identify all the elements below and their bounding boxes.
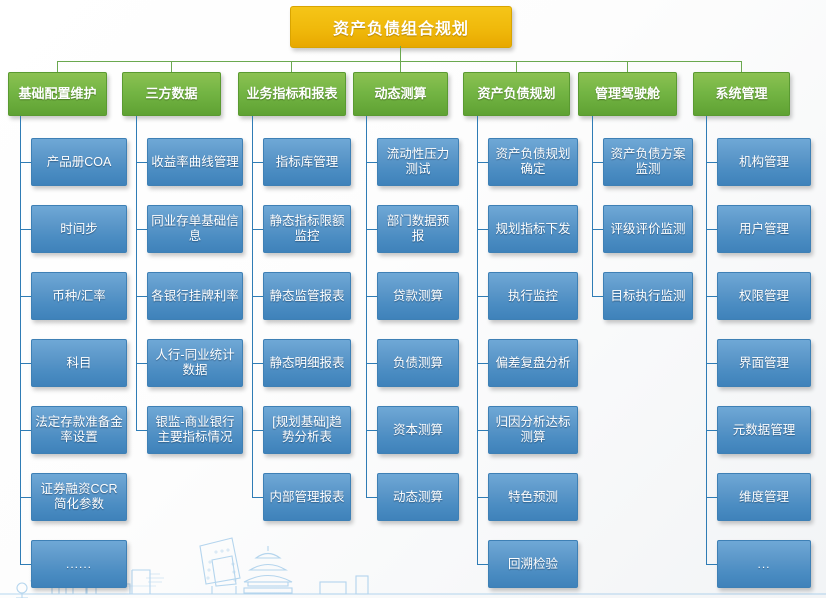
leaf-2-5[interactable]: 银监-商业银行主要指标情况 [147, 406, 243, 454]
leaf-6-1[interactable]: 资产负债方案监测 [603, 138, 693, 186]
leaf-7-5[interactable]: 元数据管理 [717, 406, 811, 454]
leaf-tick-3-6 [252, 497, 263, 498]
leaf-tick-2-5 [136, 430, 147, 431]
leaf-tick-7-4 [706, 363, 717, 364]
leaf-tick-4-6 [366, 497, 377, 498]
leaf-tick-7-3 [706, 296, 717, 297]
leaf-1-1[interactable]: 产品册COA [31, 138, 127, 186]
leaf-1-7[interactable]: ...... [31, 540, 127, 588]
leaf-tick-4-3 [366, 296, 377, 297]
leaf-3-2[interactable]: 静态指标限额监控 [263, 205, 351, 253]
leaf-4-6[interactable]: 动态测算 [377, 473, 459, 521]
leaf-3-3[interactable]: 静态监管报表 [263, 272, 351, 320]
leaf-7-2[interactable]: 用户管理 [717, 205, 811, 253]
leaf-tick-7-2 [706, 229, 717, 230]
leaf-tick-1-2 [20, 229, 31, 230]
column-header-3[interactable]: 业务指标和报表 [238, 72, 346, 116]
leaf-tick-5-7 [477, 564, 488, 565]
leaf-tick-4-2 [366, 229, 377, 230]
leaf-tick-1-4 [20, 363, 31, 364]
leaf-tick-2-4 [136, 363, 147, 364]
column-header-7[interactable]: 系统管理 [693, 72, 790, 116]
leaf-tick-6-2 [592, 229, 603, 230]
leaf-tick-5-2 [477, 229, 488, 230]
leaf-7-3[interactable]: 权限管理 [717, 272, 811, 320]
leaf-tick-7-7 [706, 564, 717, 565]
leaf-7-6[interactable]: 维度管理 [717, 473, 811, 521]
leaf-tick-2-2 [136, 229, 147, 230]
diagram-title: 资产负债组合规划 [290, 6, 512, 48]
leaf-3-1[interactable]: 指标库管理 [263, 138, 351, 186]
leaf-5-6[interactable]: 特色预测 [488, 473, 578, 521]
column-spine-2 [136, 116, 137, 431]
leaf-tick-7-6 [706, 497, 717, 498]
leaf-tick-3-4 [252, 363, 263, 364]
leaf-tick-4-4 [366, 363, 377, 364]
leaf-5-7[interactable]: 回溯检验 [488, 540, 578, 588]
leaf-tick-5-1 [477, 162, 488, 163]
leaf-tick-5-5 [477, 430, 488, 431]
column-spine-3 [252, 116, 253, 498]
leaf-3-5[interactable]: [规划基础]趋势分析表 [263, 406, 351, 454]
leaf-7-4[interactable]: 界面管理 [717, 339, 811, 387]
leaf-tick-6-1 [592, 162, 603, 163]
leaf-tick-1-3 [20, 296, 31, 297]
leaf-tick-3-3 [252, 296, 263, 297]
connector-title-stem [400, 46, 401, 62]
leaf-6-2[interactable]: 评级评价监测 [603, 205, 693, 253]
leaf-tick-6-3 [592, 296, 603, 297]
leaf-4-4[interactable]: 负债测算 [377, 339, 459, 387]
leaf-5-2[interactable]: 规划指标下发 [488, 205, 578, 253]
leaf-2-1[interactable]: 收益率曲线管理 [147, 138, 243, 186]
leaf-7-1[interactable]: 机构管理 [717, 138, 811, 186]
leaf-1-3[interactable]: 币种/汇率 [31, 272, 127, 320]
column-header-5[interactable]: 资产负债规划 [463, 72, 570, 116]
leaf-tick-1-6 [20, 497, 31, 498]
leaf-4-5[interactable]: 资本测算 [377, 406, 459, 454]
leaf-5-5[interactable]: 归因分析达标测算 [488, 406, 578, 454]
leaf-tick-1-1 [20, 162, 31, 163]
leaf-tick-5-4 [477, 363, 488, 364]
org-chart-canvas: 资产负债组合规划 基础配置维护 产品册COA 时间步 币种/汇率 科目 法定存款… [0, 0, 826, 598]
column-header-2[interactable]: 三方数据 [122, 72, 221, 116]
leaf-4-3[interactable]: 贷款测算 [377, 272, 459, 320]
leaf-3-4[interactable]: 静态明细报表 [263, 339, 351, 387]
leaf-1-2[interactable]: 时间步 [31, 205, 127, 253]
leaf-5-1[interactable]: 资产负债规划确定 [488, 138, 578, 186]
leaf-5-3[interactable]: 执行监控 [488, 272, 578, 320]
leaf-7-7[interactable]: ... [717, 540, 811, 588]
column-header-6[interactable]: 管理驾驶舱 [578, 72, 677, 116]
leaf-2-4[interactable]: 人行-同业统计数据 [147, 339, 243, 387]
leaf-tick-1-7 [20, 564, 31, 565]
leaf-tick-3-1 [252, 162, 263, 163]
leaf-5-4[interactable]: 偏差复盘分析 [488, 339, 578, 387]
leaf-6-3[interactable]: 目标执行监测 [603, 272, 693, 320]
column-header-1[interactable]: 基础配置维护 [8, 72, 107, 116]
leaf-1-4[interactable]: 科目 [31, 339, 127, 387]
leaf-1-5[interactable]: 法定存款准备金率设置 [31, 406, 127, 454]
leaf-3-6[interactable]: 内部管理报表 [263, 473, 351, 521]
column-spine-4 [366, 116, 367, 498]
leaf-1-6[interactable]: 证券融资CCR简化参数 [31, 473, 127, 521]
leaf-tick-2-1 [136, 162, 147, 163]
connector-top-bus [57, 61, 741, 62]
leaf-tick-5-3 [477, 296, 488, 297]
leaf-4-2[interactable]: 部门数据预报 [377, 205, 459, 253]
leaf-4-1[interactable]: 流动性压力测试 [377, 138, 459, 186]
leaf-tick-5-6 [477, 497, 488, 498]
column-spine-6 [592, 116, 593, 297]
leaf-tick-2-3 [136, 296, 147, 297]
column-header-4[interactable]: 动态测算 [353, 72, 448, 116]
leaf-tick-4-5 [366, 430, 377, 431]
leaf-2-3[interactable]: 各银行挂牌利率 [147, 272, 243, 320]
leaf-tick-3-5 [252, 430, 263, 431]
leaf-tick-3-2 [252, 229, 263, 230]
leaf-tick-4-1 [366, 162, 377, 163]
leaf-2-2[interactable]: 同业存单基础信息 [147, 205, 243, 253]
leaf-tick-1-5 [20, 430, 31, 431]
leaf-tick-7-5 [706, 430, 717, 431]
leaf-tick-7-1 [706, 162, 717, 163]
